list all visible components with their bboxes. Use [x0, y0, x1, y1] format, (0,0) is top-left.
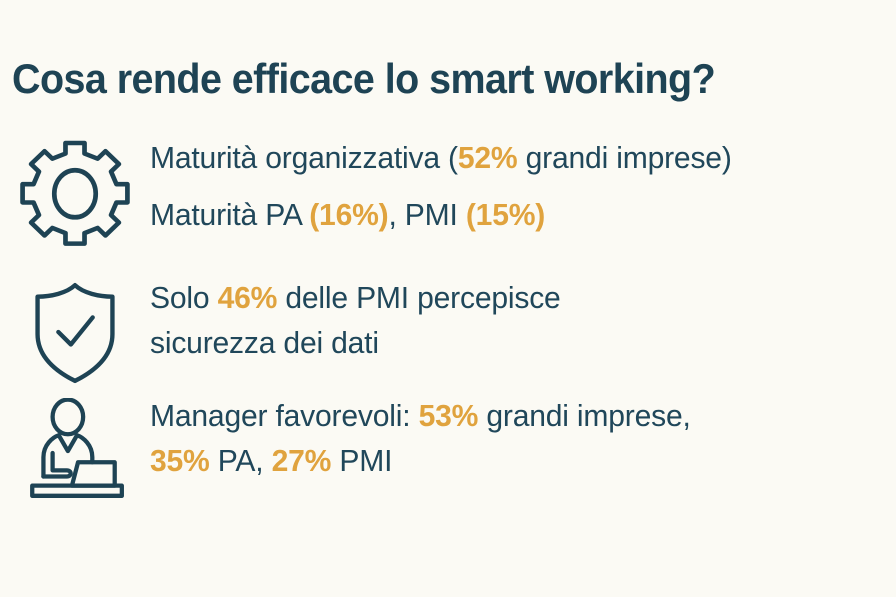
- bullet-line: sicurezza dei dati: [150, 327, 874, 358]
- text-cell: Maturità organizzativa (52% grandi impre…: [150, 140, 896, 230]
- icon-cell: [0, 398, 150, 502]
- text-segment: sicurezza dei dati: [150, 325, 379, 360]
- bullet-line: Solo 46% delle PMI percepisce: [150, 282, 874, 313]
- stat-highlight: (16%): [309, 197, 388, 232]
- text-segment: Maturità PA: [150, 197, 309, 232]
- gear-icon: [19, 140, 131, 252]
- text-segment: Manager favorevoli:: [150, 398, 419, 433]
- text-segment: Maturità organizzativa (: [150, 140, 458, 175]
- stat-highlight: 53%: [419, 398, 479, 433]
- line-gap: [150, 173, 896, 199]
- text-segment: grandi imprese): [517, 140, 731, 175]
- list-item: Maturità organizzativa (52% grandi impre…: [0, 140, 896, 280]
- page-title: Cosa rende efficace lo smart working?: [12, 57, 715, 101]
- stat-highlight: 35%: [150, 443, 210, 478]
- stat-highlight: 52%: [458, 140, 518, 175]
- person-laptop-icon: [19, 398, 131, 502]
- text-segment: , PMI: [388, 197, 465, 232]
- text-cell: Solo 46% delle PMI percepisce sicurezza …: [150, 280, 896, 358]
- bullet-list: Maturità organizzativa (52% grandi impre…: [0, 140, 896, 508]
- stat-highlight: 46%: [218, 280, 278, 315]
- text-segment: grandi imprese,: [478, 398, 691, 433]
- icon-cell: [0, 280, 150, 384]
- bullet-line: 35% PA, 27% PMI: [150, 445, 874, 476]
- text-segment: PA,: [210, 443, 272, 478]
- stat-highlight: (15%): [466, 197, 545, 232]
- icon-cell: [0, 140, 150, 252]
- text-segment: PMI: [331, 443, 392, 478]
- bullet-line: Manager favorevoli: 53% grandi imprese,: [150, 400, 874, 431]
- stat-highlight: 27%: [272, 443, 332, 478]
- list-item: Manager favorevoli: 53% grandi imprese, …: [0, 398, 896, 508]
- list-item: Solo 46% delle PMI percepisce sicurezza …: [0, 280, 896, 398]
- text-segment: Solo: [150, 280, 218, 315]
- bullet-line: Maturità organizzativa (52% grandi impre…: [150, 142, 874, 173]
- bullet-line: Maturità PA (16%), PMI (15%): [150, 199, 874, 230]
- text-cell: Manager favorevoli: 53% grandi imprese, …: [150, 398, 896, 476]
- infographic-slide: Cosa rende efficace lo smart working? Ma…: [0, 0, 896, 597]
- shield-check-icon: [27, 280, 123, 384]
- text-segment: delle PMI percepisce: [277, 280, 560, 315]
